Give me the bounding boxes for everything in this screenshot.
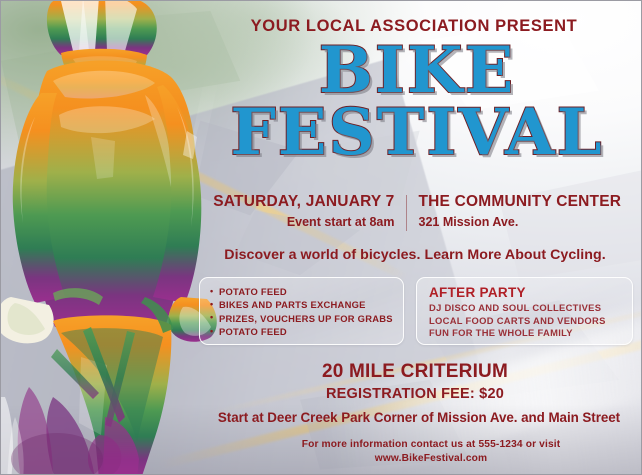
- list-item: LOCAL FOOD CARTS AND VENDORS: [429, 315, 632, 328]
- info-cards: POTATO FEED BIKES AND PARTS EXCHANGE PRI…: [199, 277, 633, 347]
- features-list: POTATO FEED BIKES AND PARTS EXCHANGE PRI…: [210, 285, 403, 339]
- list-item: POTATO FEED: [210, 325, 403, 338]
- list-item: POTATO FEED: [210, 285, 403, 298]
- event-start-time: Event start at 8am: [202, 214, 395, 231]
- race-title: 20 MILE CRITERIUM: [199, 361, 631, 383]
- list-item: BIKES AND PARTS EXCHANGE: [210, 298, 403, 311]
- event-details: SATURDAY, JANUARY 7 Event start at 8am T…: [199, 193, 631, 231]
- event-date: SATURDAY, JANUARY 7: [202, 193, 395, 212]
- after-party-card: AFTER PARTY DJ DISCO AND SOUL COLLECTIVE…: [416, 277, 633, 345]
- start-location: Start at Deer Creek Park Corner of Missi…: [199, 410, 639, 425]
- contact-phone-line: For more information contact us at 555-1…: [231, 438, 631, 452]
- venue-name: THE COMMUNITY CENTER: [419, 193, 629, 212]
- tagline: Discover a world of bicycles. Learn More…: [199, 247, 631, 263]
- event-date-block: SATURDAY, JANUARY 7 Event start at 8am: [202, 193, 406, 231]
- title-line-2: FESTIVAL: [197, 103, 637, 163]
- website-link[interactable]: www.BikeFestival.com: [231, 452, 631, 466]
- title-line-1: BIKE: [197, 41, 637, 101]
- details-divider: [406, 195, 407, 231]
- event-flyer: YOUR LOCAL ASSOCIATION PRESENT BIKE FEST…: [0, 0, 642, 475]
- page-title: BIKE FESTIVAL: [197, 41, 637, 162]
- after-party-list: DJ DISCO AND SOUL COLLECTIVES LOCAL FOOD…: [429, 302, 632, 340]
- contact-block: For more information contact us at 555-1…: [231, 438, 631, 466]
- list-item: FUN FOR THE WHOLE FAMILY: [429, 327, 632, 340]
- after-party-heading: AFTER PARTY: [429, 285, 632, 300]
- features-card: POTATO FEED BIKES AND PARTS EXCHANGE PRI…: [199, 277, 404, 345]
- list-item: PRIZES, VOUCHERS UP FOR GRABS: [210, 312, 403, 325]
- list-item: DJ DISCO AND SOUL COLLECTIVES: [429, 302, 632, 315]
- registration-fee: REGISTRATION FEE: $20: [199, 386, 631, 402]
- event-venue-block: THE COMMUNITY CENTER 321 Mission Ave.: [407, 193, 629, 231]
- venue-address: 321 Mission Ave.: [419, 214, 629, 231]
